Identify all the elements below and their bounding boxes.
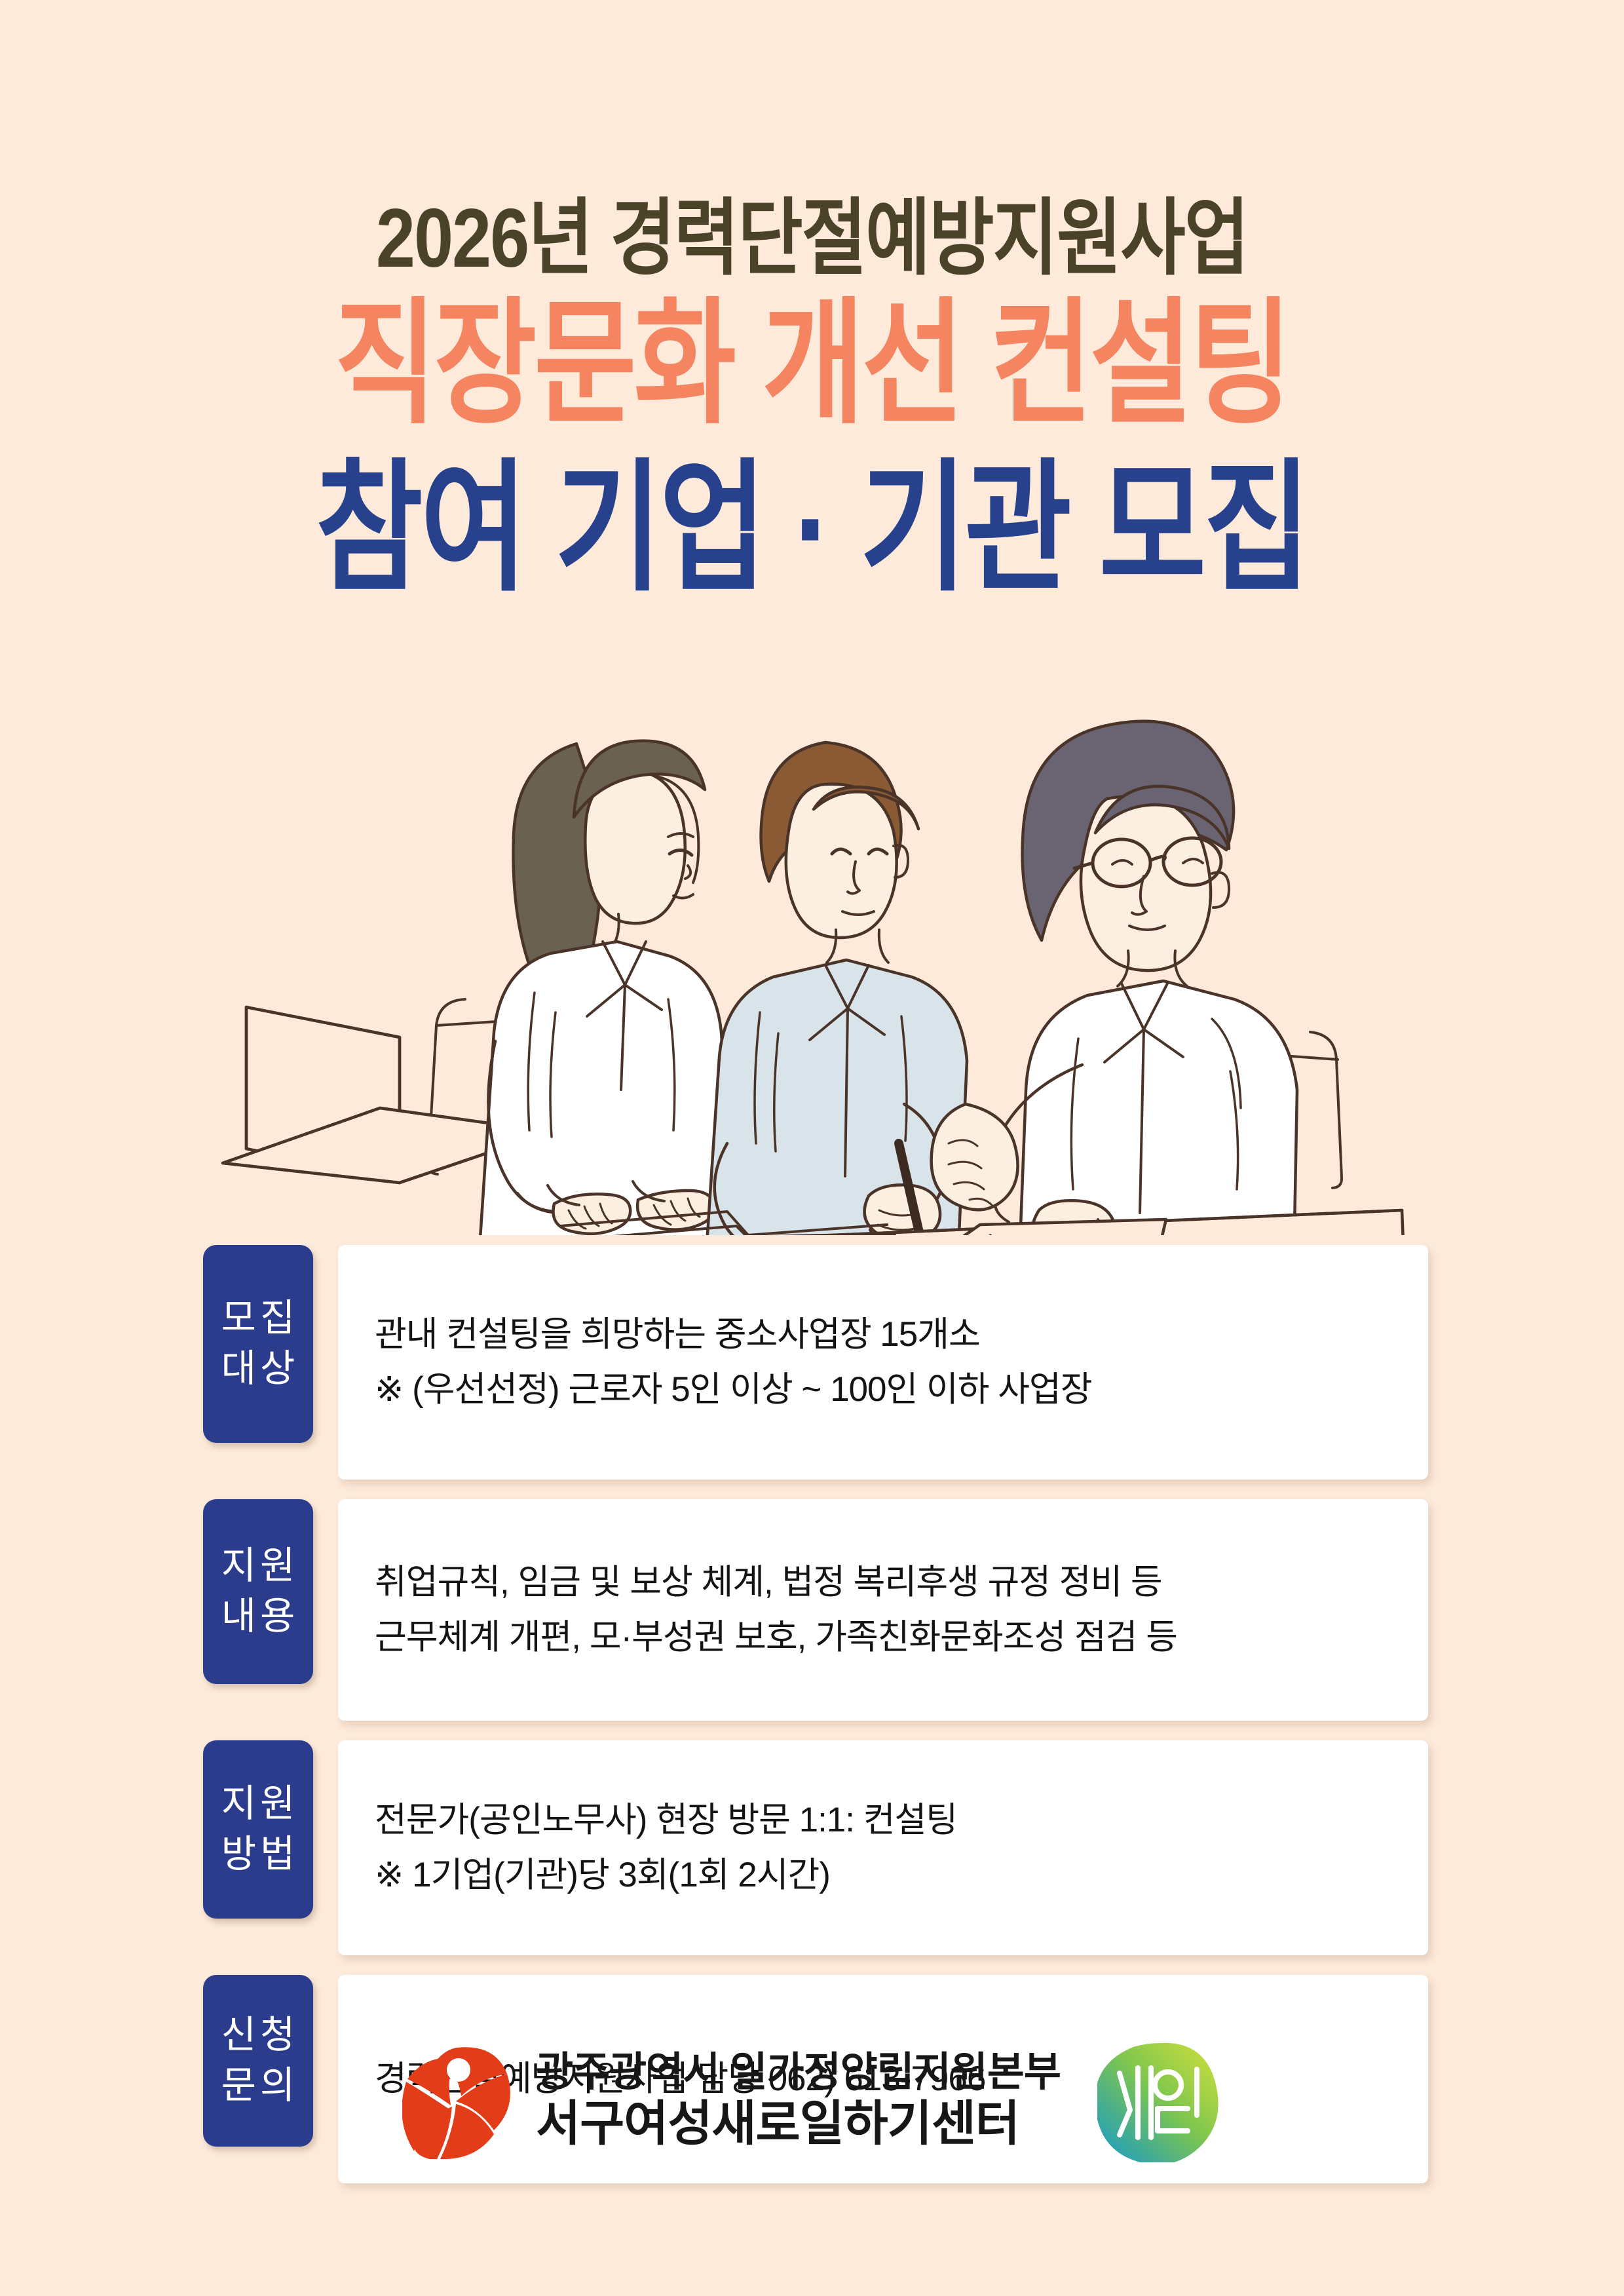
info-body-recruit: 관내 컨설팅을 희망하는 중소사업장 15개소 ※ (우선선정) 근로자 5인 … <box>338 1245 1428 1480</box>
footer-org-line1: 광주광역시 일가정양립지원본부 <box>536 2049 1061 2096</box>
footer-logo-bar: 광주광역시 일가정양립지원본부 서구여성새로일하기센터 <box>0 2038 1624 2162</box>
poster-canvas: 2026년 경력단절예방지원사업 직장문화 개선 컨설팅 참여 기업 · 기관 … <box>0 0 1624 2296</box>
info-row-method: 지원 방법 전문가(공인노무사) 현장 방문 1:1: 컨설팅 ※ 1기업(기관… <box>203 1740 1428 1955</box>
info-body-method: 전문가(공인노무사) 현장 방문 1:1: 컨설팅 ※ 1기업(기관)당 3회(… <box>338 1740 1428 1955</box>
gwangju-seogu-mark-icon <box>402 2041 514 2159</box>
info-label-recruit: 모집 대상 <box>203 1245 313 1443</box>
info-text-content-2: 근무체계 개편, 모·부성권 보호, 가족친화문화조성 점검 등 <box>375 1610 1391 1665</box>
info-label-method-line2: 방법 <box>217 1829 299 1880</box>
info-label-content-line1: 지원 <box>217 1541 299 1592</box>
info-text-recruit-2: ※ (우선선정) 근로자 5인 이상 ~ 100인 이하 사업장 <box>375 1362 1391 1417</box>
info-text-recruit-1: 관내 컨설팅을 희망하는 중소사업장 15개소 <box>375 1307 1391 1362</box>
info-row-recruit: 모집 대상 관내 컨설팅을 희망하는 중소사업장 15개소 ※ (우선선정) 근… <box>203 1245 1428 1480</box>
info-label-method: 지원 방법 <box>203 1740 313 1919</box>
info-body-content: 취업규칙, 임금 및 보상 체계, 법정 복리후생 규정 정비 등 근무체계 개… <box>338 1499 1428 1721</box>
info-label-recruit-line2: 대상 <box>217 1344 299 1394</box>
footer-org-text: 광주광역시 일가정양립지원본부 서구여성새로일하기센터 <box>536 2049 1061 2151</box>
info-text-method-1: 전문가(공인노무사) 현장 방문 1:1: 컨설팅 <box>375 1793 1391 1848</box>
meeting-illustration <box>183 645 1441 1235</box>
info-text-method-2: ※ 1기업(기관)당 3회(1회 2시간) <box>375 1848 1391 1903</box>
title-kicker: 2026년 경력단절예방지원사업 <box>0 190 1624 286</box>
title-main: 직장문화 개선 컨설팅 <box>0 288 1624 440</box>
saeil-badge-icon <box>1097 2038 1222 2162</box>
info-label-content: 지원 내용 <box>203 1499 313 1684</box>
poster-title-block: 2026년 경력단절예방지원사업 직장문화 개선 컨설팅 참여 기업 · 기관 … <box>0 190 1624 578</box>
info-text-content-1: 취업규칙, 임금 및 보상 체계, 법정 복리후생 규정 정비 등 <box>375 1555 1391 1610</box>
info-label-recruit-line1: 모집 <box>217 1293 299 1344</box>
info-row-content: 지원 내용 취업규칙, 임금 및 보상 체계, 법정 복리후생 규정 정비 등 … <box>203 1499 1428 1721</box>
title-sub: 참여 기업 · 기관 모집 <box>0 450 1624 607</box>
info-label-content-line2: 내용 <box>217 1592 299 1642</box>
footer-org-line2: 서구여성새로일하기센터 <box>536 2096 1061 2151</box>
info-label-method-line1: 지원 <box>217 1779 299 1829</box>
